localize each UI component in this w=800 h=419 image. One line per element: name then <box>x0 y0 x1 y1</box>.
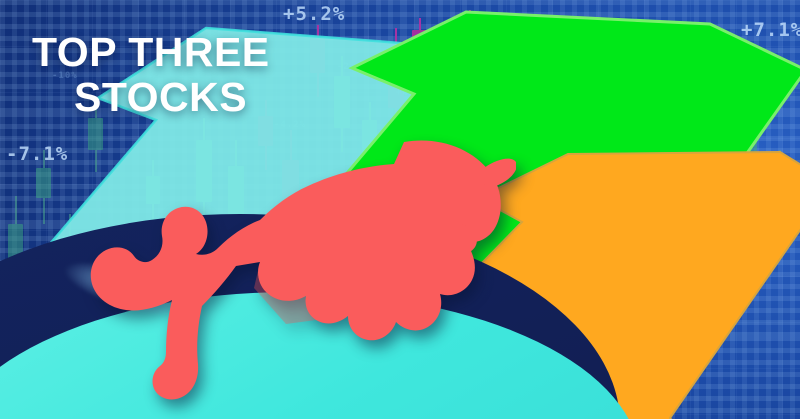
page-title: TOP THREE STOCKS <box>32 30 362 120</box>
title-line-1: TOP THREE <box>32 29 270 75</box>
title-line-2: STOCKS <box>32 75 362 120</box>
charging-bull <box>86 128 516 416</box>
stock-banner: +5.2%+8.9%+7.1%-7.1%+12%-10%-10%-2.3%+4.… <box>0 0 800 419</box>
